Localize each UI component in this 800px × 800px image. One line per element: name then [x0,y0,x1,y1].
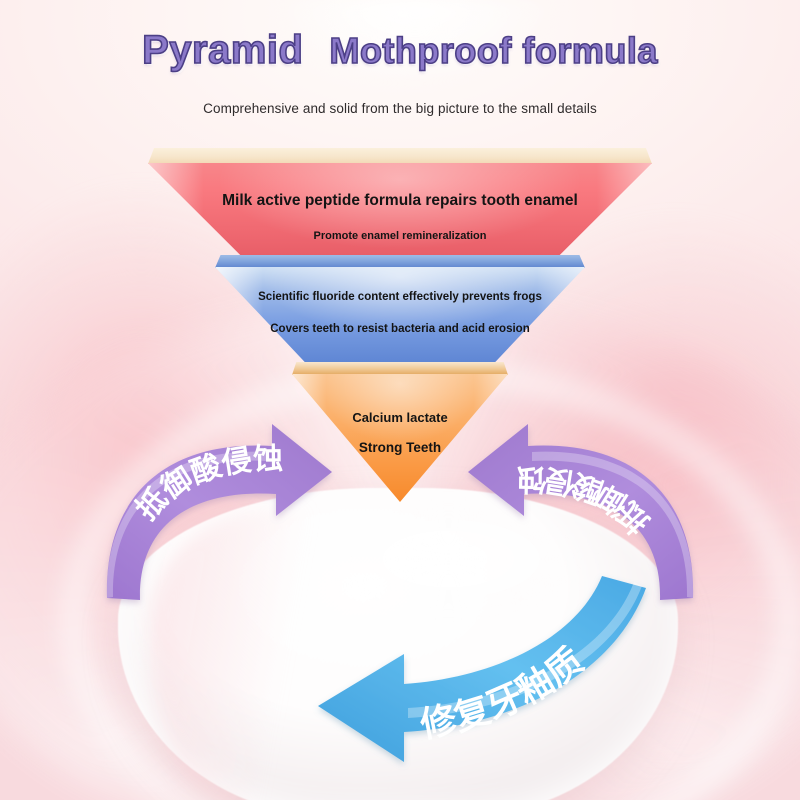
arrow-layer: 抵御酸侵蚀 抵御酸侵蚀 修复牙釉质 [0,0,800,800]
arrow-bottom-blue[interactable] [318,576,646,762]
arrow-right-purple[interactable] [468,424,693,600]
poster-canvas: Pyramid Mothproof formula Comprehensive … [0,0,800,800]
